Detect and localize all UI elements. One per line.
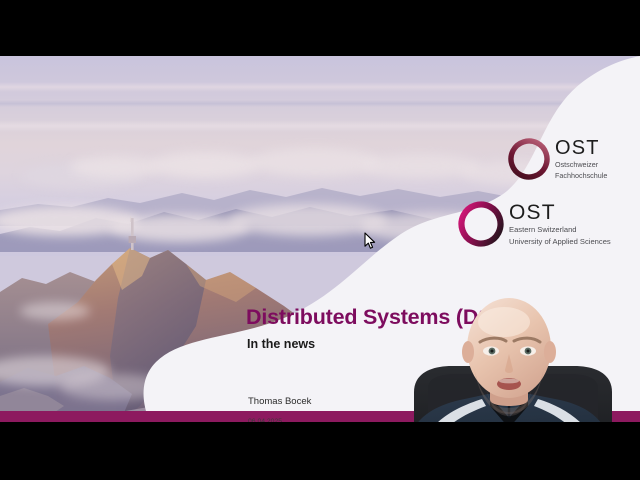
- cloud-puff: [20, 302, 90, 320]
- haze-band: [0, 120, 640, 132]
- ost-subtitle-line1: Ostschweizer: [555, 161, 607, 169]
- ost-logo-text: OST Ostschweizer Fachhochschule: [555, 138, 607, 181]
- cloud-puff: [70, 156, 160, 178]
- ost-subtitle-line2: University of Applied Sciences: [509, 238, 611, 247]
- ost-logo-german: OST Ostschweizer Fachhochschule: [508, 138, 607, 181]
- mouse-cursor-icon: [364, 232, 376, 250]
- ost-ring-icon: [508, 138, 550, 180]
- letterbox-top: [0, 0, 640, 56]
- haze-band: [0, 100, 640, 107]
- slide-author: Thomas Bocek: [248, 396, 311, 407]
- video-player-frame: OST Ostschweizer Fachhochschule: [0, 0, 640, 480]
- cloud-puff: [60, 374, 170, 400]
- ost-wordmark: OST: [555, 138, 607, 158]
- ost-ring-icon: [458, 201, 504, 247]
- slide-subtitle: In the news: [247, 337, 315, 351]
- cloud-puff: [150, 152, 260, 178]
- letterbox-bottom: [0, 422, 640, 480]
- presenter-webcam-overlay[interactable]: [378, 296, 640, 422]
- cloud-puff: [250, 148, 380, 176]
- ost-logo-text: OST Eastern Switzerland University of Ap…: [509, 202, 611, 247]
- ost-subtitle-line1: Eastern Switzerland: [509, 226, 611, 235]
- ost-subtitle-line2: Fachhochschule: [555, 172, 607, 180]
- ost-wordmark: OST: [509, 202, 611, 223]
- presentation-slide: OST Ostschweizer Fachhochschule: [0, 56, 640, 422]
- haze-band: [0, 82, 640, 92]
- ost-logo-english: OST Eastern Switzerland University of Ap…: [458, 201, 611, 247]
